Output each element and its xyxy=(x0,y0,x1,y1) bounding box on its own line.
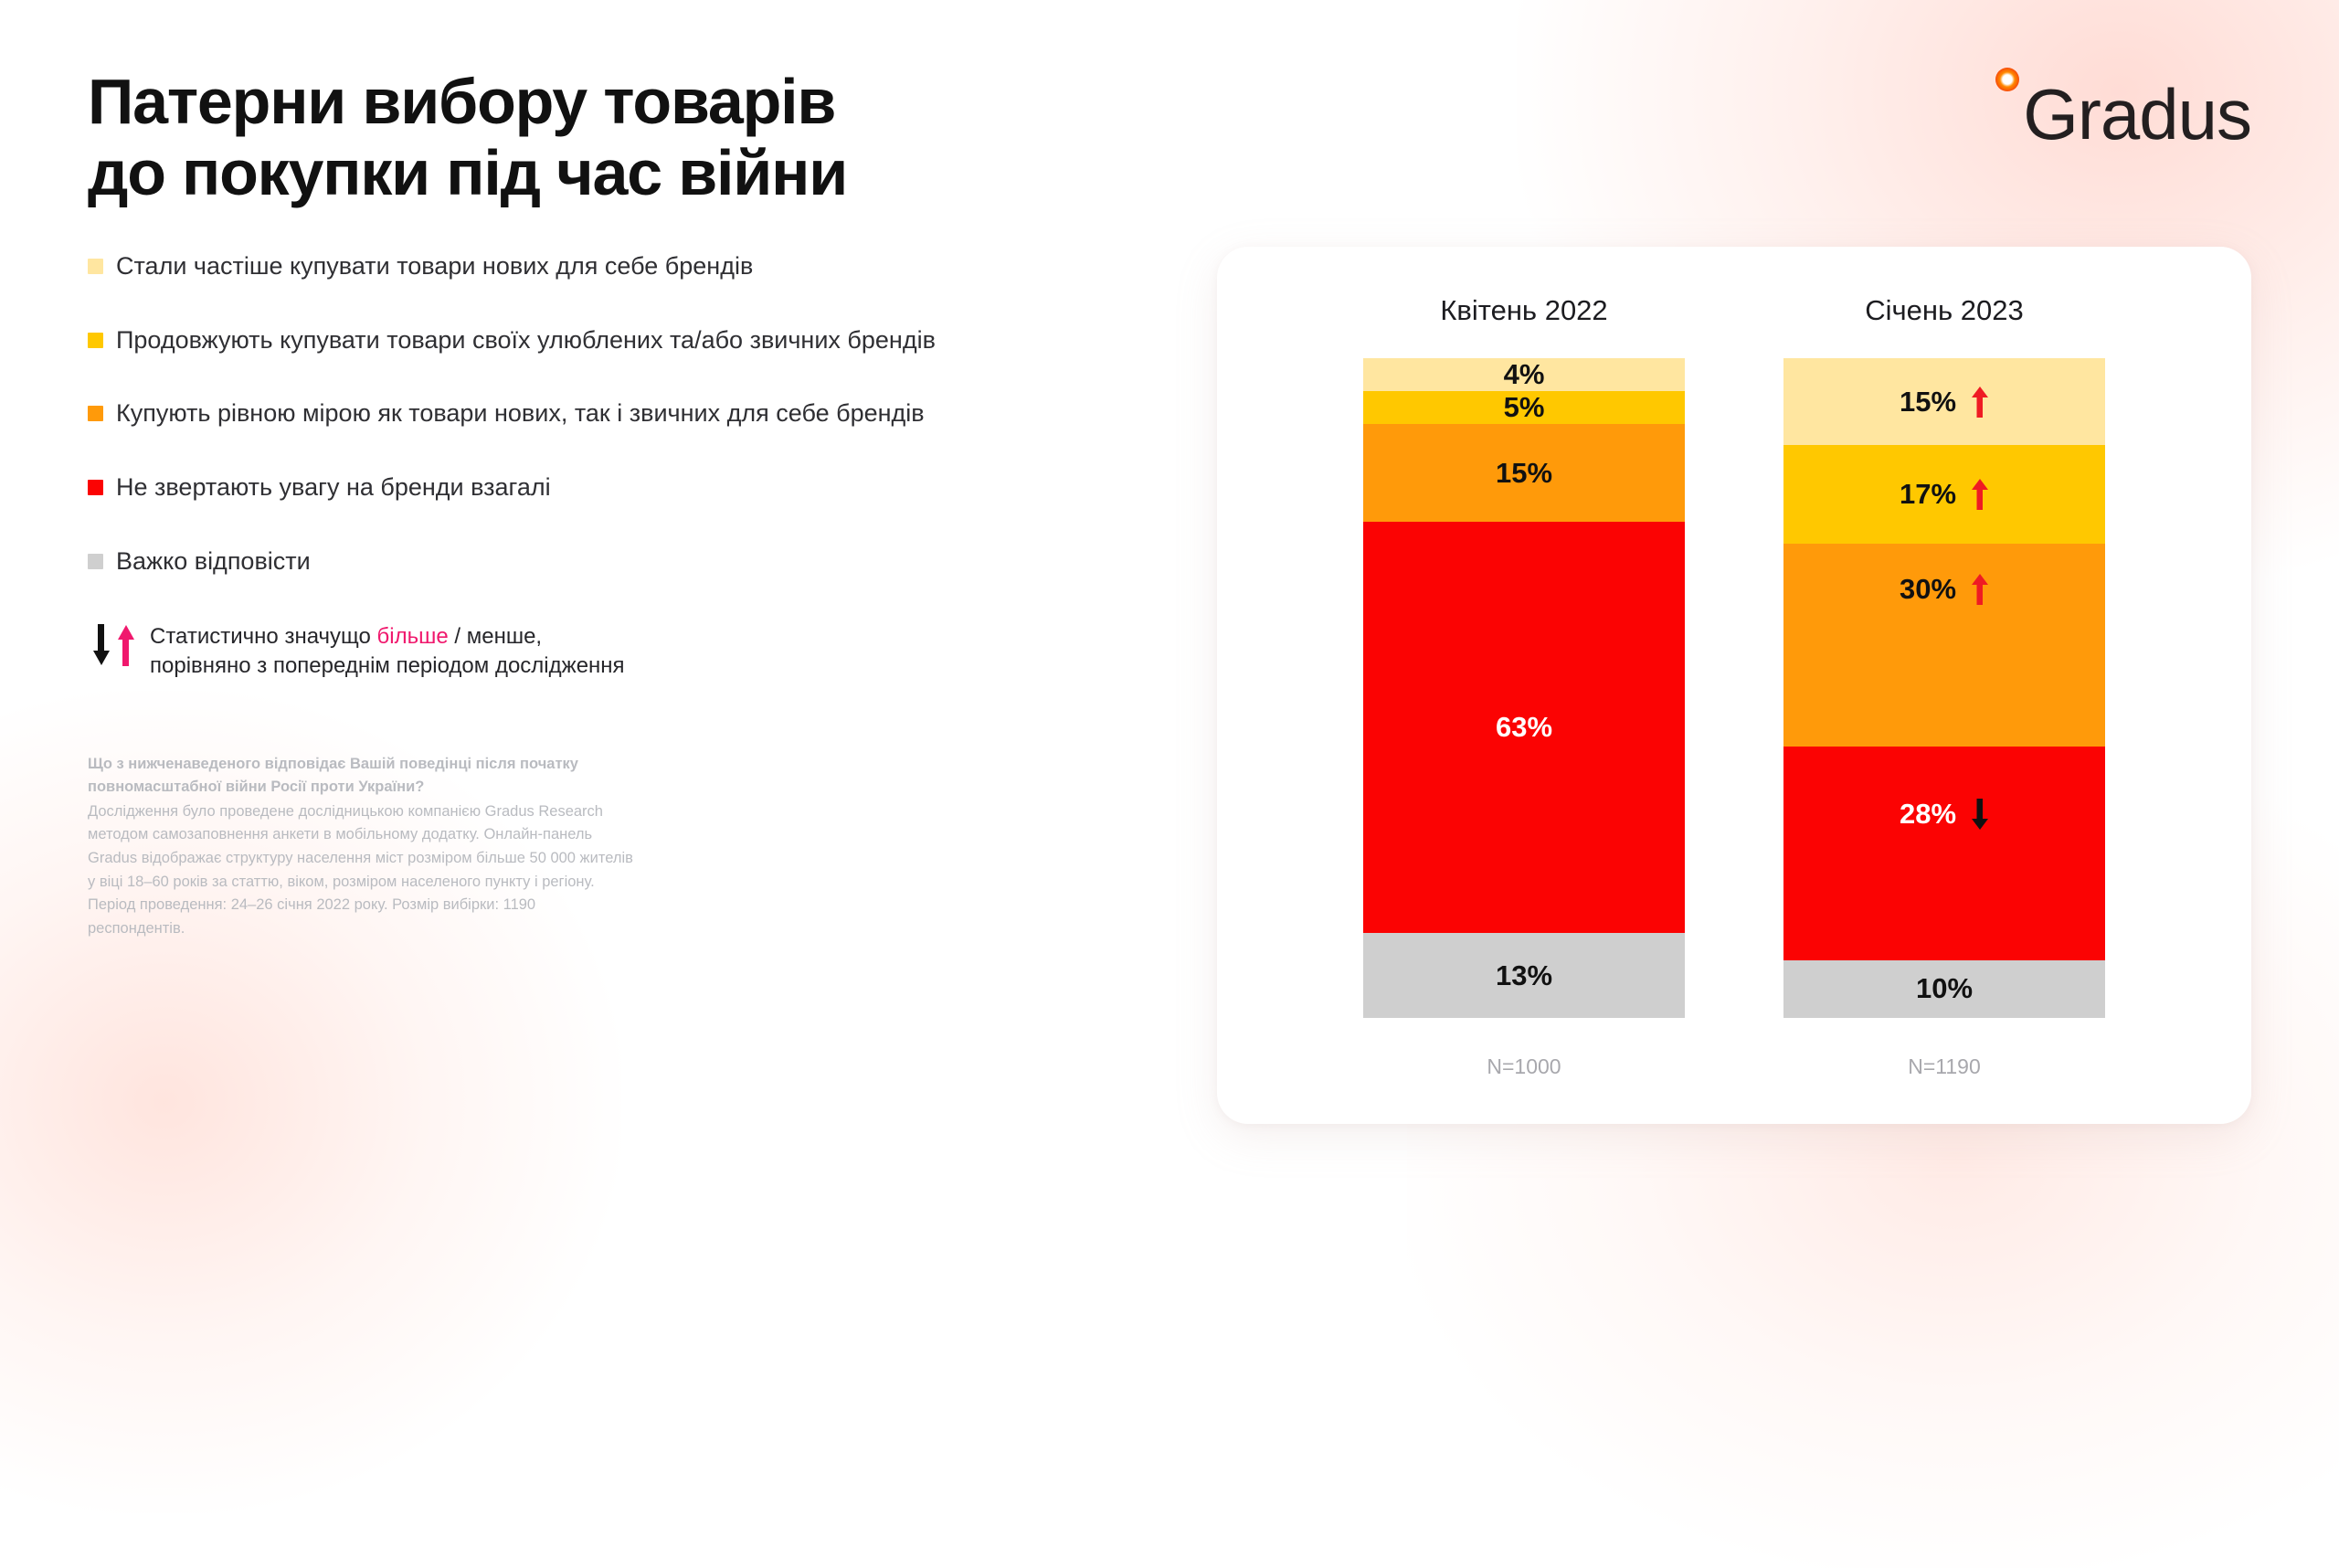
legend-item: Не звертають увагу на бренди взагалі xyxy=(88,472,1239,503)
legend-item-label: Важко відповісти xyxy=(116,546,311,577)
legend-item: Стали частіше купувати товари нових для … xyxy=(88,251,1239,282)
legend-swatch-icon xyxy=(88,480,103,495)
legend-item-label: Не звертають увагу на бренди взагалі xyxy=(116,472,551,503)
legend-item-label: Стали частіше купувати товари нових для … xyxy=(116,251,753,282)
bar-segment-value: 4% xyxy=(1504,358,1545,391)
page-title-line-1: Патерни вибору товарів xyxy=(88,66,1148,137)
chart-card: Квітень 2022 4% 5% 15% xyxy=(1217,247,2251,1124)
legend-swatch-icon xyxy=(88,333,103,348)
sample-size-label: N=1190 xyxy=(1908,1054,1981,1079)
left-column: Патерни вибору товарів до покупки під ча… xyxy=(88,66,1239,940)
significance-prefix: Статистично значущо xyxy=(150,624,377,649)
bar-segment-content: 10% xyxy=(1916,972,1973,1005)
bar-segment-content: 15% xyxy=(1496,457,1552,490)
gradus-logo-text: Gradus xyxy=(2023,82,2251,148)
bar-segment-value: 28% xyxy=(1900,798,1956,831)
legend-item: Важко відповісти xyxy=(88,546,1239,577)
bar-segment[interactable]: 5% xyxy=(1363,391,1685,424)
stacked-bar: 15% 17% xyxy=(1783,358,2105,1018)
bar-segment-content: 4% xyxy=(1504,358,1545,391)
page-title: Патерни вибору товарів до покупки під ча… xyxy=(88,66,1148,209)
bar-segment[interactable]: 17% xyxy=(1783,445,2105,544)
chart-column: Січень 2023 15% 17% xyxy=(1783,294,2105,1124)
bar-segment-content: 5% xyxy=(1504,391,1545,424)
chart-column: Квітень 2022 4% 5% 15% xyxy=(1363,294,1685,1124)
chart-columns: Квітень 2022 4% 5% 15% xyxy=(1217,247,2251,1124)
significance-text: Статистично значущо більше / менше, порі… xyxy=(150,620,625,682)
bar-segment-content: 63% xyxy=(1496,711,1552,744)
bar-segment-value: 13% xyxy=(1496,959,1552,992)
bar-segment-value: 63% xyxy=(1496,711,1552,744)
trend-up-icon xyxy=(1971,479,1989,510)
significance-line-2: порівняно з попереднім періодом дослідже… xyxy=(150,653,625,678)
bar-segment-value: 5% xyxy=(1504,391,1545,424)
bar-segment-content: 15% xyxy=(1900,386,1989,418)
legend-item: Продовжують купувати товари своїх улюбле… xyxy=(88,325,1239,356)
gradus-logo: Gradus xyxy=(1995,68,2251,148)
legend-item-label: Купують рівною мірою як товари нових, та… xyxy=(116,398,925,429)
chart-column-header: Січень 2023 xyxy=(1865,294,2024,327)
footnote-body: Дослідження було проведене дослідницькою… xyxy=(88,803,633,937)
bar-segment[interactable]: 63% xyxy=(1363,522,1685,933)
bar-segment-value: 10% xyxy=(1916,972,1973,1005)
legend-swatch-icon xyxy=(88,554,103,569)
bar-segment-value: 30% xyxy=(1900,573,1956,606)
trend-down-icon xyxy=(1971,799,1989,830)
significance-arrows xyxy=(91,620,150,666)
legend: Стали частіше купувати товари нових для … xyxy=(88,251,1239,577)
trend-up-icon xyxy=(1971,387,1989,418)
bar-segment-content: 17% xyxy=(1900,478,1989,511)
slide-root: Gradus Патерни вибору товарів до покупки… xyxy=(0,0,2339,1221)
page-title-line-2: до покупки під час війни xyxy=(88,137,1148,208)
arrow-down-icon xyxy=(91,624,111,666)
stacked-bar: 4% 5% 15% 63% xyxy=(1363,358,1685,1018)
legend-swatch-icon xyxy=(88,406,103,421)
gradus-dot-icon xyxy=(1995,68,2019,91)
legend-item-label: Продовжують купувати товари своїх улюбле… xyxy=(116,325,936,356)
legend-swatch-icon xyxy=(88,259,103,274)
significance-note: Статистично значущо більше / менше, порі… xyxy=(91,620,1239,682)
sample-size-label: N=1000 xyxy=(1487,1054,1561,1079)
bar-segment-content: 28% xyxy=(1900,798,1989,831)
bar-segment[interactable]: 15% xyxy=(1363,424,1685,522)
significance-suffix: / менше, xyxy=(449,624,542,649)
bar-segment-value: 15% xyxy=(1496,457,1552,490)
bar-segment[interactable]: 15% xyxy=(1783,358,2105,445)
bar-segment[interactable]: 13% xyxy=(1363,933,1685,1018)
bar-segment-value: 17% xyxy=(1900,478,1956,511)
bar-segment[interactable]: 28% xyxy=(1783,747,2105,960)
legend-item: Купують рівною мірою як товари нових, та… xyxy=(88,398,1239,429)
trend-up-icon xyxy=(1971,574,1989,605)
bar-segment[interactable]: 4% xyxy=(1363,358,1685,391)
footnote-question: Що з нижченаведеного відповідає Вашій по… xyxy=(88,753,636,800)
significance-highlight: більше xyxy=(377,624,449,649)
bar-segment-content: 30% xyxy=(1900,573,1989,606)
bar-segment-value: 15% xyxy=(1900,386,1956,418)
bar-segment-content: 13% xyxy=(1496,959,1552,992)
footnote: Що з нижченаведеного відповідає Вашій по… xyxy=(88,753,636,941)
bar-segment[interactable]: 10% xyxy=(1783,960,2105,1018)
bar-segment[interactable]: 30% xyxy=(1783,544,2105,747)
arrow-up-icon xyxy=(116,624,136,666)
chart-column-header: Квітень 2022 xyxy=(1440,294,1607,327)
